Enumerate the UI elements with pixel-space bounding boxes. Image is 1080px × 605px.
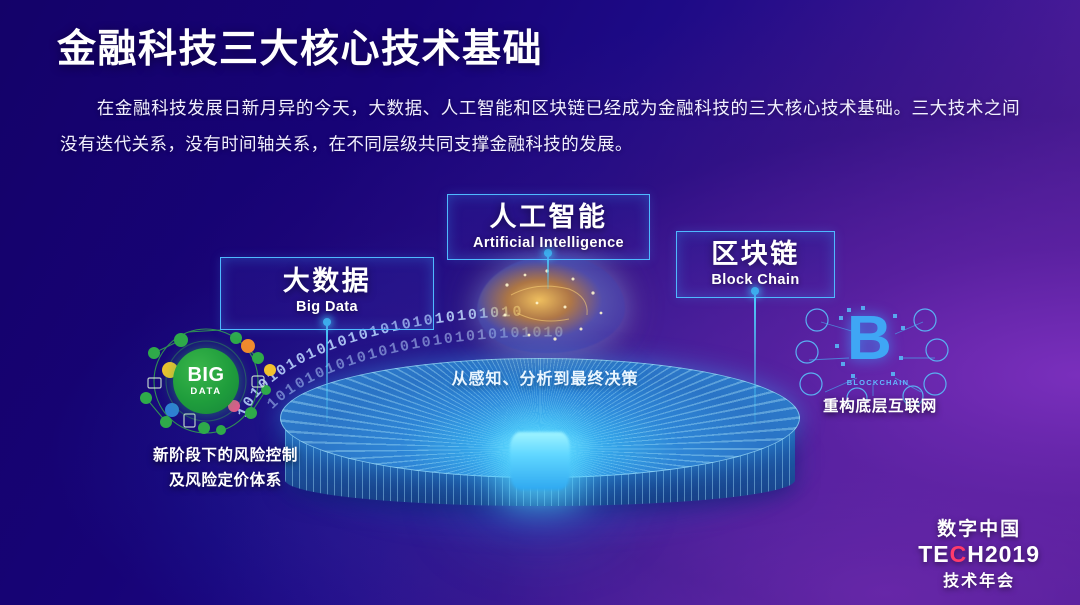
leaf-icon bbox=[800, 373, 822, 395]
body-paragraph: 在金融科技发展日新月异的今天，大数据、人工智能和区块链已经成为金融科技的三大核心… bbox=[60, 90, 1020, 162]
caption-big-data-line1: 新阶段下的风险控制 bbox=[108, 443, 343, 468]
chart-icon bbox=[914, 309, 936, 331]
shield-icon bbox=[926, 339, 948, 361]
logo-tech-c: C bbox=[950, 541, 968, 567]
disc-center-pedestal bbox=[510, 432, 570, 490]
label-big-data-en: Big Data bbox=[221, 299, 433, 315]
logo-line-2: TECH2019 bbox=[918, 543, 1040, 566]
label-blockchain-en: Block Chain bbox=[677, 272, 834, 288]
caption-big-data-line2: 及风险定价体系 bbox=[108, 468, 343, 493]
big-data-badge-bottom: DATA bbox=[190, 386, 221, 397]
big-data-icon-cluster: BIG DATA bbox=[126, 318, 291, 440]
label-ai-cn: 人工智能 bbox=[448, 203, 649, 231]
exchange-icon bbox=[806, 309, 828, 331]
label-blockchain-cn: 区块链 bbox=[677, 240, 834, 268]
brain-neurons bbox=[477, 255, 625, 355]
label-ai-en: Artificial Intelligence bbox=[448, 235, 649, 251]
logo-line-1: 数字中国 bbox=[918, 514, 1040, 541]
logo-tech-pre: TE bbox=[918, 541, 949, 567]
connector-line-blockchain bbox=[754, 291, 756, 423]
bank-icon bbox=[796, 341, 818, 363]
event-logo: 数字中国 TECH2019 技术年会 bbox=[918, 514, 1040, 591]
label-box-ai[interactable]: 人工智能 Artificial Intelligence bbox=[447, 194, 650, 260]
home-icon bbox=[924, 373, 946, 395]
brain-illustration bbox=[477, 255, 625, 355]
label-big-data-cn: 大数据 bbox=[221, 267, 433, 295]
blockchain-letter-b: B bbox=[847, 310, 899, 382]
logo-tech-post: H2019 bbox=[967, 541, 1040, 567]
connector-line-big-data bbox=[326, 322, 328, 422]
blockchain-wordmark: BLOCKCHAIN bbox=[835, 378, 921, 387]
caption-ai: 从感知、分析到最终决策 bbox=[425, 365, 665, 389]
label-box-blockchain[interactable]: 区块链 Block Chain bbox=[676, 231, 835, 298]
big-data-badge-top: BIG bbox=[187, 365, 224, 385]
page-title: 金融科技三大核心技术基础 bbox=[57, 18, 857, 74]
big-data-badge: BIG DATA bbox=[173, 348, 239, 414]
label-box-big-data[interactable]: 大数据 Big Data bbox=[220, 257, 434, 330]
slide-root: 1010101010101010101010101010 10101010101… bbox=[0, 0, 1080, 605]
logo-line-3: 技术年会 bbox=[918, 567, 1040, 591]
caption-blockchain: 重构底层互联网 bbox=[790, 394, 970, 416]
caption-big-data: 新阶段下的风险控制 及风险定价体系 bbox=[108, 443, 343, 493]
blockchain-icon-cluster: B BLOCKCHAIN bbox=[795, 300, 950, 405]
